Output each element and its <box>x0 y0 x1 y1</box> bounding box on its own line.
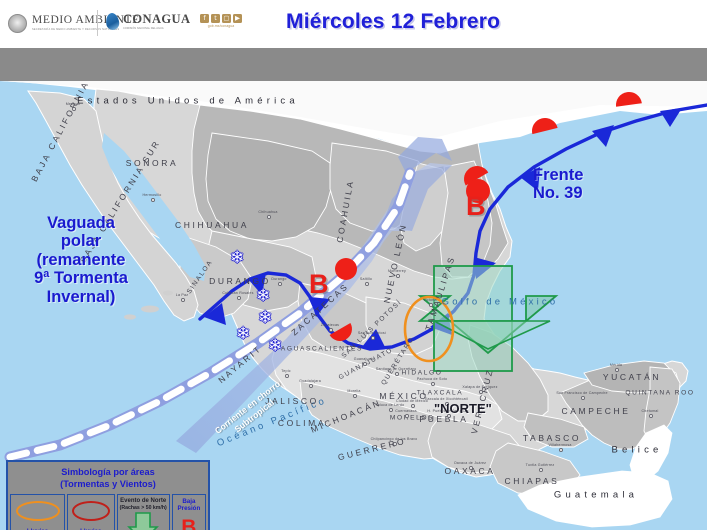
snow-icon: ❄ <box>236 325 250 342</box>
low-pressure-label-central: B <box>309 269 329 300</box>
red-ellipse-icon <box>72 501 110 521</box>
green-down-arrow-icon <box>126 512 160 530</box>
social-handle-label: gob.mx/conagua <box>208 24 234 28</box>
conagua-title: CONAGUA <box>123 13 190 26</box>
page-title: Miércoles 12 Febrero <box>286 10 500 34</box>
orange-ellipse-icon <box>16 501 60 521</box>
low-pressure-label-north: B <box>466 191 486 222</box>
mexican-eagle-seal-icon <box>8 14 27 33</box>
instagram-icon[interactable]: ▢ <box>222 14 231 23</box>
legend-evento-de-norte[interactable]: Evento de Norte (Rachas > 50 km/h) <box>117 494 170 530</box>
snow-icon: ❄ <box>268 337 282 354</box>
legend-panel: Simbología por áreas (Tormentas y Viento… <box>6 460 210 530</box>
youtube-icon[interactable]: ▶ <box>233 14 242 23</box>
norte-annotation: "NORTE" <box>434 401 492 416</box>
social-media-links: f t ▢ ▶ gob.mx/conagua <box>200 14 242 28</box>
snow-icon: ❄ <box>258 309 272 326</box>
page-header: MEDIO AMBIENTE SECRETARÍA DE MEDIO AMBIE… <box>0 0 707 48</box>
facebook-icon[interactable]: f <box>200 14 209 23</box>
legend-B-symbol: B <box>181 517 196 530</box>
weather-map: ❄ ❄ ❄ ❄ ❄ Estados Unidos de AméricaBelic… <box>0 81 707 530</box>
legend-baja-presion[interactable]: Baja Presión B <box>172 494 206 530</box>
frente-39-annotation: Frente No. 39 <box>533 166 583 203</box>
legend-title: Simbología por áreas (Tormentas y Viento… <box>10 464 206 494</box>
low-pressure-marker-central <box>335 258 357 280</box>
twitter-icon[interactable]: t <box>211 14 220 23</box>
snow-icon: ❄ <box>230 249 244 266</box>
water-drop-icon <box>105 12 120 31</box>
legend-lluvias-intensas[interactable]: Lluvias Intensas (> 75 mm) <box>67 494 115 530</box>
weather-map-page: MEDIO AMBIENTE SECRETARÍA DE MEDIO AMBIE… <box>0 0 707 530</box>
snow-icon: ❄ <box>256 287 270 304</box>
conagua-logo: CONAGUA COMISIÓN NACIONAL DEL AGUA <box>106 13 190 30</box>
header-divider <box>97 10 98 36</box>
header-grey-bar <box>0 48 707 81</box>
legend-lluvias-fuertes[interactable]: Lluvias Fuertes (> 25 mm) <box>10 494 65 530</box>
conagua-subtitle: COMISIÓN NACIONAL DEL AGUA <box>123 28 190 31</box>
vaguada-polar-annotation: Vaguada polar (remanente 9ª Tormenta Inv… <box>6 214 156 306</box>
